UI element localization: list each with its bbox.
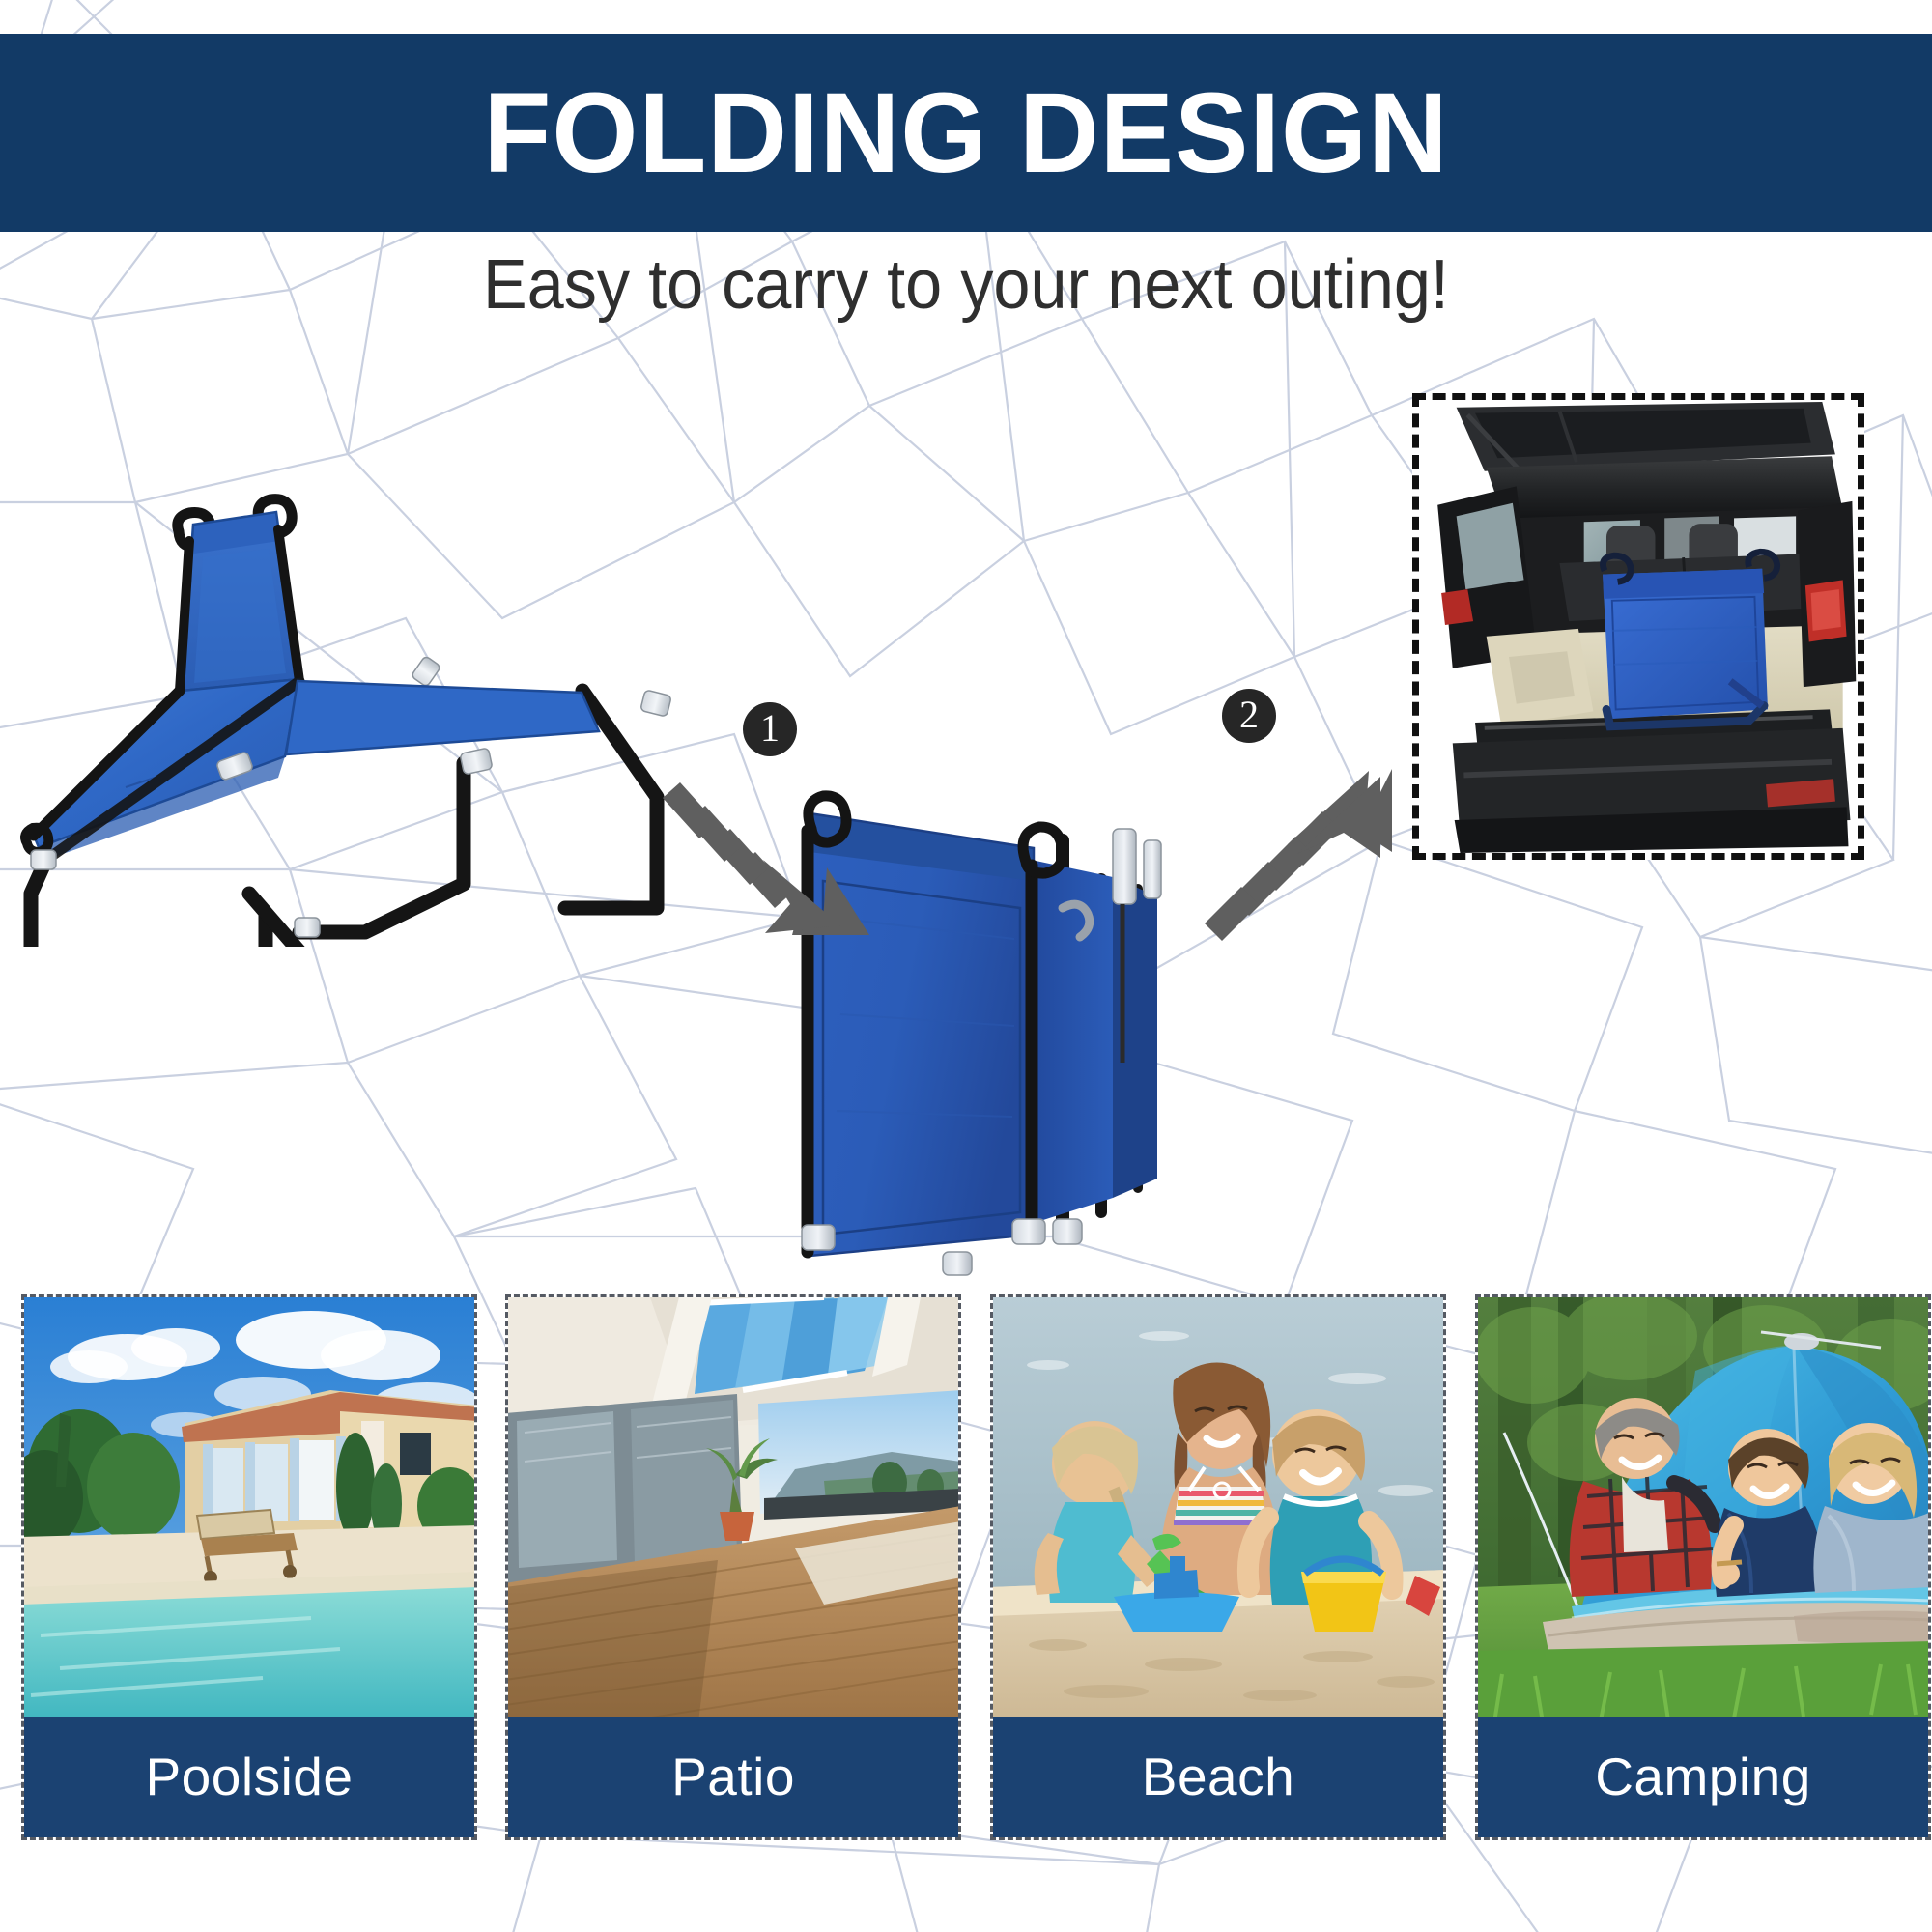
suv-trunk-photo xyxy=(1419,400,1858,853)
usecase-label: Camping xyxy=(1595,1750,1811,1804)
step-arrow-2-icon xyxy=(1174,763,1396,942)
step-badge-2: 2 xyxy=(1222,689,1276,743)
step-badge-1: 1 xyxy=(743,702,797,756)
usecase-label: Patio xyxy=(671,1750,795,1804)
usecase-label: Beach xyxy=(1142,1750,1294,1804)
step-arrow-1-icon xyxy=(647,763,869,937)
product-lounger-open xyxy=(10,372,724,947)
usecase-caption-patio: Patio xyxy=(508,1717,958,1837)
usecase-card-row: Poolside xyxy=(0,1294,1932,1855)
usecase-caption-camping: Camping xyxy=(1478,1717,1928,1837)
usecase-caption-beach: Beach xyxy=(993,1717,1443,1837)
suv-trunk-photo-frame xyxy=(1412,393,1864,860)
usecase-card-poolside[interactable]: Poolside xyxy=(21,1294,477,1840)
usecase-card-beach[interactable]: Beach xyxy=(990,1294,1446,1840)
page-subtitle: Easy to carry to your next outing! xyxy=(48,249,1884,323)
usecase-card-camping[interactable]: Camping xyxy=(1475,1294,1931,1840)
camping-photo xyxy=(1478,1297,1928,1722)
usecase-caption-poolside: Poolside xyxy=(24,1717,474,1837)
patio-photo xyxy=(508,1297,958,1722)
beach-photo xyxy=(993,1297,1443,1722)
usecase-label: Poolside xyxy=(146,1750,354,1804)
page-title: FOLDING DESIGN xyxy=(483,76,1448,190)
header-banner: FOLDING DESIGN xyxy=(0,34,1932,232)
usecase-card-patio[interactable]: Patio xyxy=(505,1294,961,1840)
poolside-photo xyxy=(24,1297,474,1722)
infographic-canvas: FOLDING DESIGN Easy to carry to your nex… xyxy=(0,0,1932,1932)
